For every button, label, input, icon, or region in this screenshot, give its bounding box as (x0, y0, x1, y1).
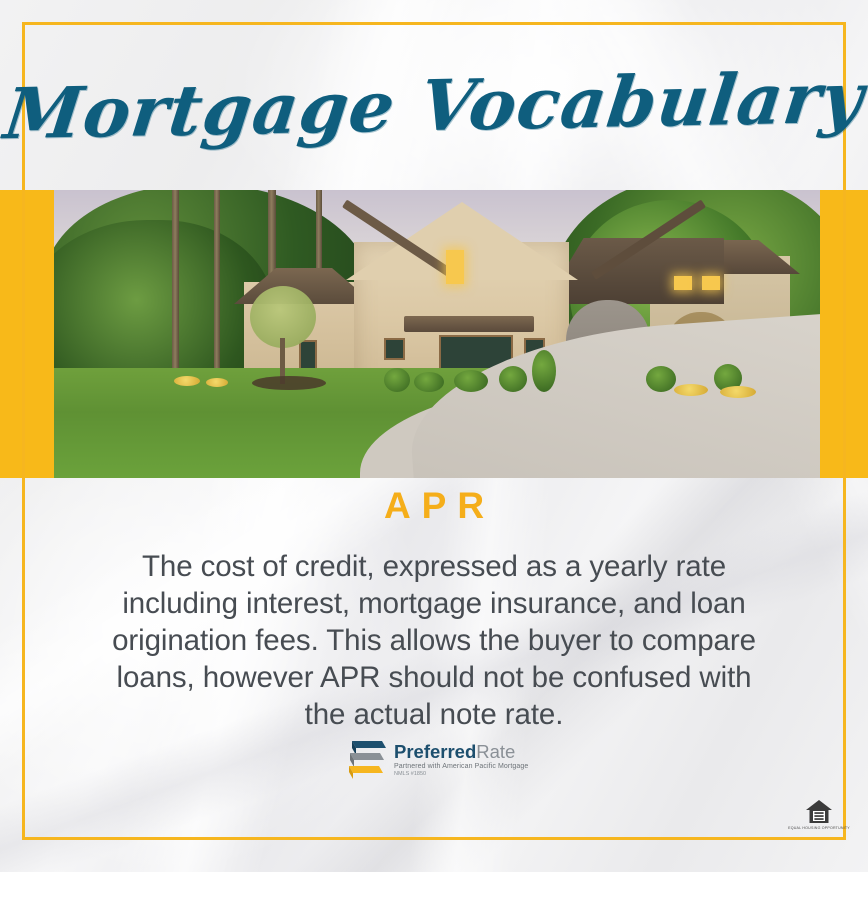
equal-housing-opportunity: EQUAL HOUSING OPPORTUNITY (803, 799, 835, 833)
photo-band (0, 190, 868, 478)
photo-shrub (414, 372, 444, 392)
photo-shrub (499, 366, 527, 392)
title-area: Mortgage Vocabulary (0, 26, 868, 186)
photo-shrub (384, 368, 410, 392)
equal-housing-opportunity-icon (805, 799, 833, 825)
photo-window-lit (674, 276, 692, 290)
photo-shrub (454, 370, 488, 392)
logo-tagline: Partnered with American Pacific Mortgage (394, 762, 528, 771)
equal-housing-caption: EQUAL HOUSING OPPORTUNITY (788, 826, 850, 830)
logo-nmls: NMLS #1850 (394, 771, 528, 778)
logo-text-block: PreferredRate Partnered with American Pa… (394, 738, 528, 778)
page-title: Mortgage Vocabulary (0, 63, 867, 149)
photo-flower-bed (720, 386, 756, 398)
logo-word-primary: Preferred (394, 741, 476, 762)
photo-flower-bed (674, 384, 708, 396)
photo-window-lit (446, 250, 464, 284)
photo-shrub (532, 350, 556, 392)
logo-wordmark: PreferredRate (394, 742, 528, 761)
photo-shrub (646, 366, 676, 392)
house-photo (54, 190, 820, 478)
definition-text: The cost of credit, expressed as a yearl… (96, 548, 772, 733)
photo-flower-bed (206, 378, 228, 387)
photo-tree-trunk (214, 190, 220, 382)
term-heading: APR (0, 485, 868, 527)
photo-window-lit (702, 276, 720, 290)
poster-canvas: Mortgage Vocabulary (0, 0, 868, 900)
logo-word-secondary: Rate (476, 741, 515, 762)
preferred-rate-logo[interactable]: PreferredRate Partnered with American Pa… (348, 738, 528, 782)
photo-mulch-bed (252, 376, 326, 390)
photo-window (384, 338, 405, 360)
photo-tree-trunk (172, 190, 179, 386)
photo-flower-bed (174, 376, 200, 386)
poster-card: Mortgage Vocabulary (0, 0, 868, 872)
photo-porch-roof (404, 316, 534, 332)
three-stacked-bars-logo-icon (348, 738, 388, 782)
